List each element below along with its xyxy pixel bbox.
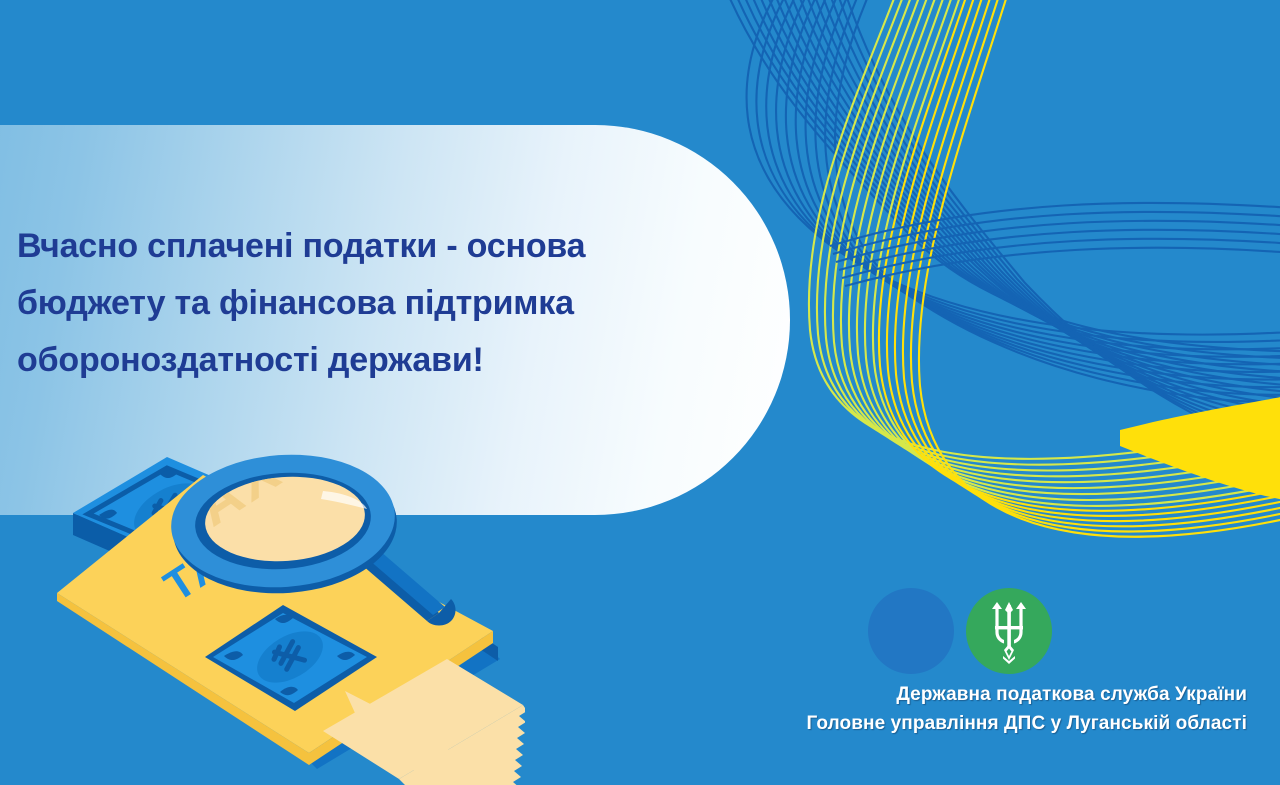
poster-canvas: Вчасно сплачені податки - основа бюджету… [0,0,1280,785]
logo-blue-circle [868,588,954,674]
headline-line-1: Вчасно сплачені податки - основа [17,218,757,275]
headline-line-3: обороноздатності держави! [17,332,757,389]
tax-illustration: TAX [55,435,525,785]
page-title: Вчасно сплачені податки - основа бюджету… [17,218,757,389]
ukraine-trident-icon [966,588,1052,674]
footer-line-2: Головне управління ДПС у Луганській обла… [547,709,1247,739]
footer-line-1: Державна податкова служба України [547,680,1247,709]
headline-line-2: бюджету та фінансова підтримка [17,275,757,332]
dps-logo [868,588,1058,674]
footer-attribution: Державна податкова служба України Головн… [547,680,1247,739]
